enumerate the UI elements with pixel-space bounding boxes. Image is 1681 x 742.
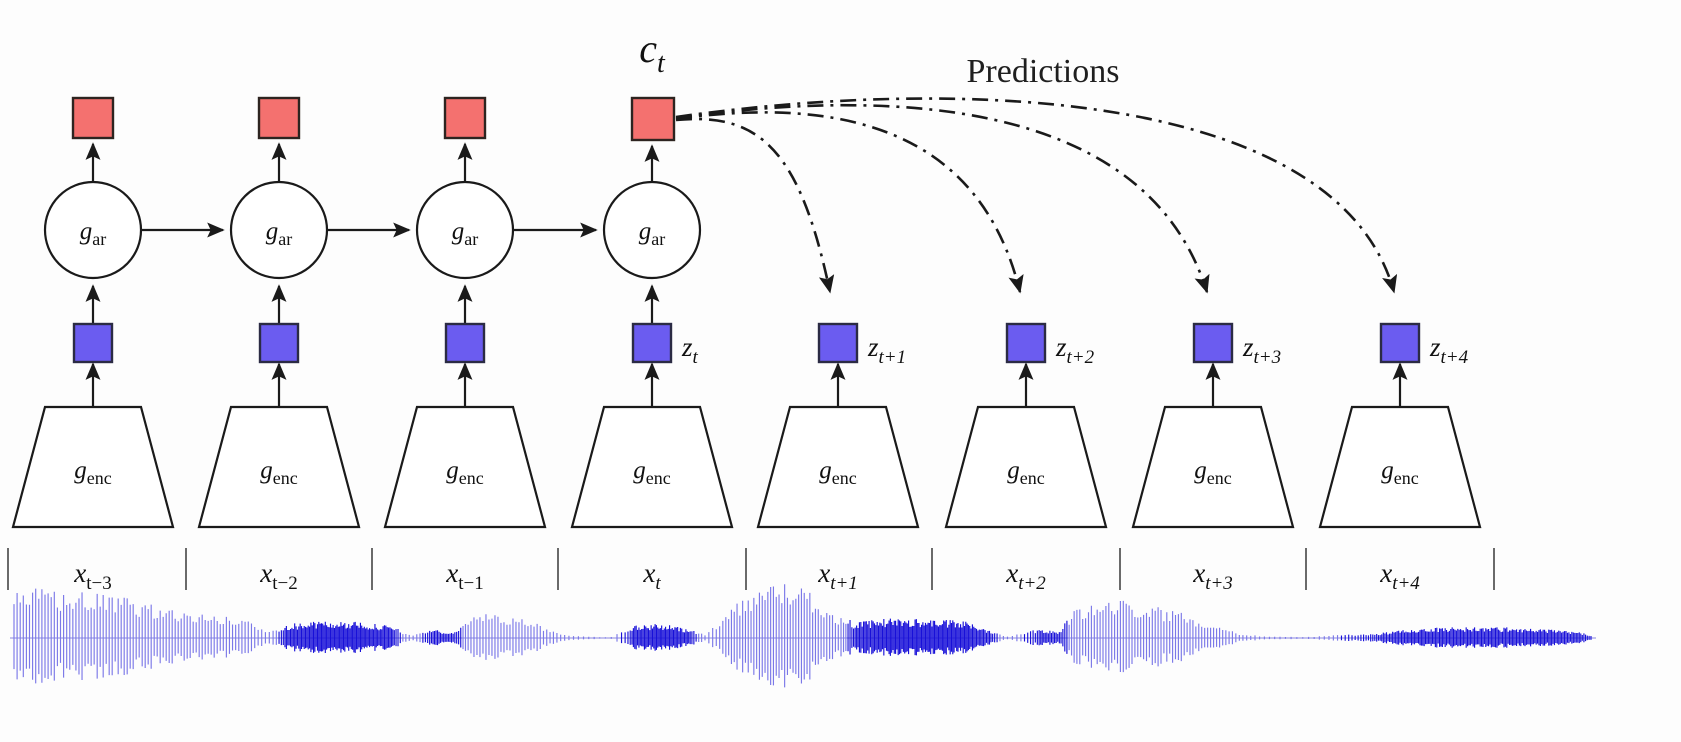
- predictions-label: Predictions: [967, 53, 1120, 90]
- latent-square-1: [260, 324, 298, 362]
- latent-square-4: [819, 324, 857, 362]
- latent-square-7: [1381, 324, 1419, 362]
- context-square-1: [259, 98, 299, 138]
- latent-square-6: [1194, 324, 1232, 362]
- context-square-2: [445, 98, 485, 138]
- diagram-canvas: gar genc xt−3 gar: [0, 0, 1681, 742]
- context-square-3: [632, 98, 674, 140]
- latent-square-0: [74, 324, 112, 362]
- latent-square-3: [633, 324, 671, 362]
- latent-square-5: [1007, 324, 1045, 362]
- context-square-0: [73, 98, 113, 138]
- latent-square-2: [446, 324, 484, 362]
- cpc-architecture-diagram: gar genc xt−3 gar: [0, 0, 1681, 742]
